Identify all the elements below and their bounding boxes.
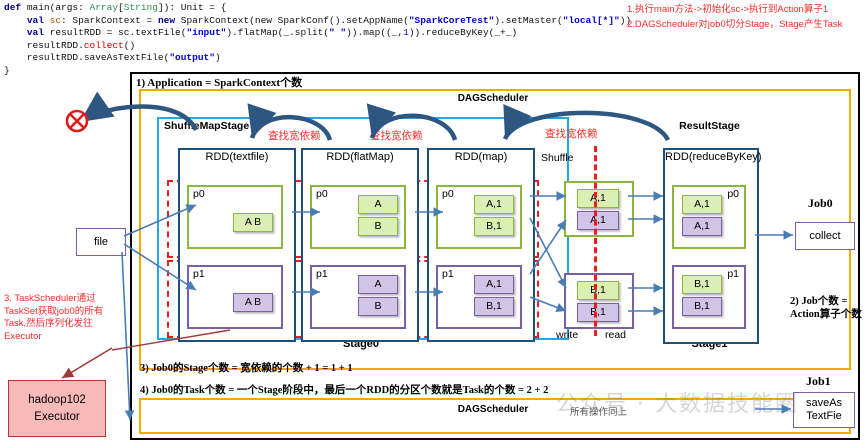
- annotation-step-3: 3. TaskScheduler通过TaskSet获取job0的所有Task,然…: [4, 293, 112, 343]
- job0-header: Job0: [808, 196, 833, 211]
- shuffle-value-chip: A,1: [577, 189, 619, 208]
- partition-box-RDD(textfile)-p1: p1A B: [187, 265, 283, 329]
- no-entry-icon: [67, 111, 87, 131]
- value-chip: A B: [233, 213, 273, 232]
- arrow-file-down: [122, 252, 130, 420]
- value-chip: B,1: [474, 297, 514, 316]
- partition-box-RDD(textfile)-p0: p0A B: [187, 185, 283, 249]
- code-line-2: val resultRDD = sc.textFile("input").fla…: [4, 27, 624, 40]
- value-chip: A: [358, 195, 398, 214]
- find-wide-dependency-label-2: 查找宽依赖: [545, 126, 598, 141]
- shuffle-map-stage-label: ShuffleMapStage: [164, 120, 249, 132]
- executor-node-box[interactable]: hadoop102 Executor: [8, 380, 106, 437]
- dagscheduler-label-top: DAGScheduler: [139, 93, 847, 104]
- partition-label: p0: [193, 188, 205, 200]
- value-chip: B,1: [474, 217, 514, 236]
- value-chip: B,1: [682, 275, 722, 294]
- annotation-step-1: 1.执行main方法->初始化sc->执行到Action算子1: [627, 2, 865, 17]
- value-chip: A,1: [474, 195, 514, 214]
- partition-label: p1: [442, 268, 454, 280]
- value-chip: A: [358, 275, 398, 294]
- find-wide-dependency-label-0: 查找宽依赖: [268, 128, 321, 143]
- value-chip: A,1: [682, 217, 722, 236]
- partition-box-RDD(reduceByKey)-p1: p1B,1B,1: [672, 265, 746, 329]
- partition-label: p0: [316, 188, 328, 200]
- job1-action-box[interactable]: saveAs TextFie: [793, 392, 855, 428]
- note-stage-count: 3) Job0的Stage个数 = 宽依赖的个数 + 1 = 1 + 1: [140, 360, 353, 375]
- shuffle-group-1: B,1B,1: [564, 273, 634, 329]
- shuffle-value-chip: B,1: [577, 303, 619, 322]
- value-chip: B: [358, 217, 398, 236]
- partition-box-RDD(map)-p1: p1A,1B,1: [436, 265, 522, 329]
- code-line-4: resultRDD.saveAsTextFile("output"): [4, 52, 624, 65]
- shuffle-group-0: A,1A,1: [564, 181, 634, 237]
- shuffle-boundary-divider: [594, 146, 597, 336]
- annotation-step-2: 2.DAGScheduler对job0切分Stage，Stage产生Task: [627, 17, 865, 32]
- source-code-block: def main(args: Array[String]): Unit = { …: [4, 2, 624, 78]
- partition-box-RDD(flatMap)-p0: p0AB: [310, 185, 406, 249]
- watermark-text: 公众号 · 大数据技能圈: [556, 386, 799, 418]
- job0-action-box[interactable]: collect: [795, 222, 855, 250]
- partition-box-RDD(flatMap)-p1: p1AB: [310, 265, 406, 329]
- note-task-count: 4) Job0的Task个数 = 一个Stage阶段中，最后一个RDD的分区个数…: [140, 382, 548, 397]
- value-chip: A,1: [474, 275, 514, 294]
- rdd-title: RDD(map): [429, 150, 533, 163]
- file-source-box[interactable]: file: [76, 228, 126, 256]
- value-chip: B: [358, 297, 398, 316]
- shuffle-value-chip: B,1: [577, 281, 619, 300]
- partition-box-RDD(reduceByKey)-p0: p0A,1A,1: [672, 185, 746, 249]
- partition-box-RDD(map)-p0: p0A,1B,1: [436, 185, 522, 249]
- value-chip: A,1: [682, 195, 722, 214]
- code-line-0: def main(args: Array[String]): Unit = {: [4, 2, 624, 15]
- annotation-steps-1-2: 1.执行main方法->初始化sc->执行到Action算子1 2.DAGSch…: [627, 2, 865, 32]
- value-chip: A B: [233, 293, 273, 312]
- rdd-title: RDD(textfile): [180, 150, 294, 163]
- shuffle-value-chip: A,1: [577, 211, 619, 230]
- collect-label: collect: [809, 230, 840, 243]
- saveas-label-line2: TextFie: [806, 410, 841, 423]
- job1-header: Job1: [806, 374, 831, 389]
- shuffle-write-label: write: [556, 329, 578, 341]
- executor-role-label: Executor: [34, 409, 79, 426]
- code-line-3: resultRDD.collect(): [4, 40, 624, 53]
- partition-label: p0: [442, 188, 454, 200]
- shuffle-label: Shuffle: [541, 152, 574, 164]
- find-wide-dependency-label-1: 查找宽依赖: [370, 128, 423, 143]
- rdd-title: RDD(flatMap): [303, 150, 417, 163]
- saveas-label-line1: saveAs: [806, 397, 842, 410]
- partition-label: p1: [316, 268, 328, 280]
- partition-label: p1: [727, 268, 739, 280]
- executor-host-label: hadoop102: [28, 392, 86, 409]
- code-line-1: val sc: SparkContext = new SparkContext(…: [4, 15, 624, 28]
- result-stage-label: ResultStage: [637, 120, 782, 132]
- partition-label: p1: [193, 268, 205, 280]
- shuffle-read-label: read: [605, 329, 626, 341]
- arrow-note3-to-executor: [62, 348, 112, 378]
- partition-label: p0: [727, 188, 739, 200]
- application-label: 1) Application = SparkContext个数: [136, 74, 302, 90]
- note-job-count: 2) Job个数 = Action算子个数: [790, 295, 862, 321]
- file-label: file: [94, 236, 108, 249]
- rdd-title: RDD(reduceByKey): [665, 150, 757, 163]
- value-chip: B,1: [682, 297, 722, 316]
